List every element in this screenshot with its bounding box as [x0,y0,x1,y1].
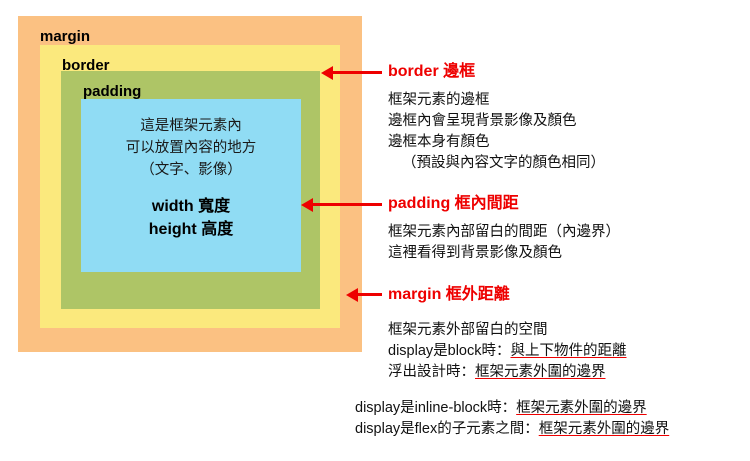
padding-note-line-1: 框架元素內部留白的間距（內邊界） [388,222,620,243]
margin-float-underlined: 框架元素外圍的邊界 [475,364,606,380]
footer-inline-block-prefix: display是inline-block時： [355,400,516,416]
border-note-line-4-text: （預設與內容文字的顏色相同） [388,153,605,174]
content-height-label: height 高度 [149,218,233,241]
margin-block-prefix: display是block時： [388,343,511,359]
margin-note-heading: margin 框外距離 [388,285,510,304]
content-description-line-2: 可以放置內容的地方 [126,137,257,159]
content-description-line-3: （文字、影像） [140,159,242,181]
content-description-line-1: 這是框架元素內 [140,115,242,137]
border-note-line-1: 框架元素的邊框 [388,90,605,111]
border-note-heading: border 邊框 [388,62,475,81]
footer-inline-block-underlined: 框架元素外圍的邊界 [516,400,647,416]
margin-note-body: 框架元素外部留白的空間 display是block時：與上下物件的距離 浮出設計… [388,320,627,383]
footer-flex-underlined: 框架元素外圍的邊界 [539,421,670,437]
padding-box: padding 這是框架元素內 可以放置內容的地方 （文字、影像） width … [61,71,320,309]
border-note-line-4: （預設與內容文字的顏色相同） [388,153,605,174]
margin-note-line-1: 框架元素外部留白的空間 [388,320,627,341]
border-box: border padding 這是框架元素內 可以放置內容的地方 （文字、影像）… [40,45,340,328]
footer-flex-line: display是flex的子元素之間：框架元素外圍的邊界 [355,419,669,440]
border-note-body: 框架元素的邊框 邊框內會呈現背景影像及顏色 邊框本身有顏色 （預設與內容文字的顏… [388,90,605,175]
margin-float-prefix: 浮出設計時： [388,364,475,380]
padding-note-heading: padding 框內間距 [388,194,519,213]
content-box: 這是框架元素內 可以放置內容的地方 （文字、影像） width 寬度 heigh… [81,99,301,272]
border-callout-arrow [332,71,382,74]
margin-block-underlined: 與上下物件的距離 [511,343,627,359]
footer-notes: display是inline-block時：框架元素外圍的邊界 display是… [355,398,669,440]
border-note-line-3: 邊框本身有顏色 [388,132,605,153]
content-width-label: width 寬度 [149,195,233,218]
padding-callout-arrow [312,203,382,206]
margin-callout-arrow [357,293,382,296]
margin-note-float-line: 浮出設計時：框架元素外圍的邊界 [388,362,627,383]
margin-note-block-line: display是block時：與上下物件的距離 [388,341,627,362]
footer-inline-block-line: display是inline-block時：框架元素外圍的邊界 [355,398,669,419]
diagram-canvas: margin border padding 這是框架元素內 可以放置內容的地方 … [0,0,750,461]
footer-flex-prefix: display是flex的子元素之間： [355,421,539,437]
padding-note-line-2: 這裡看得到背景影像及顏色 [388,243,620,264]
padding-label: padding [83,84,141,99]
margin-label: margin [40,29,90,44]
border-note-line-2: 邊框內會呈現背景影像及顏色 [388,111,605,132]
margin-box: margin border padding 這是框架元素內 可以放置內容的地方 … [18,16,362,352]
padding-note-body: 框架元素內部留白的間距（內邊界） 這裡看得到背景影像及顏色 [388,222,620,264]
